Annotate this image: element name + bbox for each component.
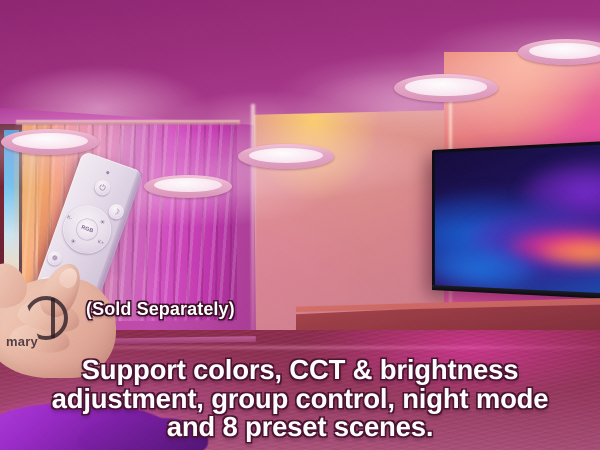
scene-preset-1-button[interactable]: ❁ — [46, 249, 64, 267]
ceiling-light-1 — [1, 129, 99, 155]
power-button[interactable]: ⏻ — [93, 178, 112, 197]
brightness-down-icon[interactable]: ☀ — [69, 237, 77, 246]
fixture-lens — [249, 148, 324, 164]
rgb-color-button[interactable]: RGB — [73, 215, 101, 243]
feature-caption-line-3: and 8 preset scenes. — [0, 413, 600, 442]
feature-caption: Support colors, CCT & brightness adjustm… — [0, 356, 600, 442]
feature-caption-line-2: adjustment, group control, night mode — [0, 385, 600, 414]
curtain-rod — [16, 120, 240, 125]
ir-led-indicator — [106, 171, 110, 175]
cct-decrease-label[interactable]: K- — [66, 214, 73, 221]
wall-mounted-tv — [432, 140, 600, 299]
group-control-button[interactable]: ☰ — [36, 275, 55, 294]
brightness-up-icon[interactable]: ☀ — [98, 217, 106, 226]
power-icon: ⏻ — [98, 183, 107, 193]
remote-side-edge — [75, 170, 143, 349]
feature-caption-line-1: Support colors, CCT & brightness — [0, 356, 600, 385]
sold-separately-caption: (Sold Separately) — [0, 299, 600, 320]
flower-icon: ❁ — [51, 254, 59, 263]
rgb-label: RGB — [80, 225, 94, 235]
product-lifestyle-image: ⏻ ☽ K- K+ ☀ ☀ RGB ❁ ✿ ☰ — [0, 0, 600, 450]
tv-screen-wallpaper — [435, 144, 600, 294]
cct-increase-label[interactable]: K+ — [97, 239, 105, 247]
ceiling-light-5 — [518, 39, 600, 65]
fixture-lens — [405, 78, 486, 95]
ceiling-light-3 — [238, 144, 334, 169]
ceiling-light-4 — [394, 74, 498, 102]
blossom-icon: ✿ — [65, 278, 73, 287]
scene-preset-2-button[interactable]: ✿ — [60, 274, 78, 292]
hand-holding-remote: ⏻ ☽ K- K+ ☀ ☀ RGB ❁ ✿ ☰ — [12, 158, 202, 358]
list-icon: ☰ — [42, 280, 50, 288]
moon-icon: ☽ — [112, 207, 121, 217]
